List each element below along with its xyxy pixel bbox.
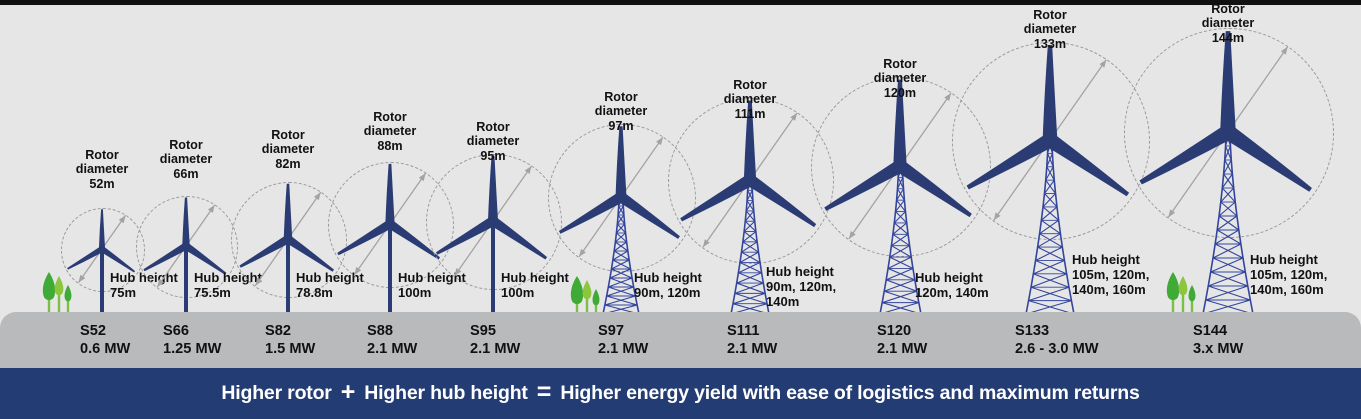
model-name: S52	[80, 323, 130, 341]
hub-height-value: 90m, 120m	[634, 285, 702, 300]
model-name: S133	[1015, 323, 1099, 341]
hub-height-label: Hub height105m, 120m,140m, 160m	[1072, 252, 1149, 297]
rotor-label-line: diameter	[690, 92, 810, 106]
model-power: 2.1 MW	[470, 341, 520, 359]
rotor-label-line: diameter	[990, 22, 1110, 36]
rotor-label-line: Rotor	[330, 110, 450, 124]
model-name: S95	[470, 323, 520, 341]
hub-height-value: 105m, 120m,	[1250, 267, 1327, 282]
model-name: S66	[163, 323, 221, 341]
model-power: 2.1 MW	[367, 341, 417, 359]
model-name: S88	[367, 323, 417, 341]
turbine-model-label: S1443.x MW	[1193, 323, 1243, 358]
rotor-label-line: diameter	[1168, 16, 1288, 30]
hub-height-value: 140m, 160m	[1072, 282, 1149, 297]
hub-height-value: 90m, 120m,	[766, 279, 836, 294]
model-name: S82	[265, 323, 315, 341]
turbine-model-label: S952.1 MW	[470, 323, 520, 358]
model-name: S144	[1193, 323, 1243, 341]
hub-height-prefix: Hub height	[915, 270, 989, 285]
rotor-diameter-label: Rotordiameter120m	[840, 57, 960, 100]
rotor-diameter-value: 144m	[1168, 31, 1288, 45]
tagline-banner: Higher rotor + Higher hub height = Highe…	[0, 368, 1361, 419]
turbine-model-label: S972.1 MW	[598, 323, 648, 358]
model-name: S111	[727, 323, 777, 341]
hub-height-prefix: Hub height	[766, 264, 836, 279]
turbine-model-label: S1112.1 MW	[727, 323, 777, 358]
model-power: 2.6 - 3.0 MW	[1015, 341, 1099, 359]
hub-height-label: Hub height90m, 120m,140m	[766, 264, 836, 309]
model-power: 2.1 MW	[598, 341, 648, 359]
turbine-model-label: S1202.1 MW	[877, 323, 927, 358]
hub-height-value: 100m	[501, 285, 569, 300]
model-power: 3.x MW	[1193, 341, 1243, 359]
model-power: 1.5 MW	[265, 341, 315, 359]
rotor-diameter-value: 133m	[990, 37, 1110, 51]
hub-height-label: Hub height90m, 120m	[634, 270, 702, 300]
rotor-label-line: Rotor	[433, 120, 553, 134]
turbine-model-label: S1332.6 - 3.0 MW	[1015, 323, 1099, 358]
rotor-diameter-label: Rotordiameter133m	[990, 8, 1110, 51]
tagline-part-2: Higher hub height	[364, 382, 527, 405]
hub-height-prefix: Hub height	[634, 270, 702, 285]
rotor-blades	[1119, 23, 1337, 241]
model-name: S120	[877, 323, 927, 341]
turbine-model-label: S520.6 MW	[80, 323, 130, 358]
hub-height-value: 105m, 120m,	[1072, 267, 1149, 282]
rotor-diameter-value: 95m	[433, 149, 553, 163]
tagline-part-3: Higher energy yield with ease of logisti…	[560, 382, 1139, 405]
model-power: 0.6 MW	[80, 341, 130, 359]
rotor-diameter-value: 120m	[840, 86, 960, 100]
rotor-label-line: Rotor	[690, 78, 810, 92]
rotor-diameter-label: Rotordiameter144m	[1168, 2, 1288, 45]
infographic-canvas: Rotordiameter52mHub height75mRotordiamet…	[0, 0, 1361, 419]
rotor-label-line: diameter	[433, 134, 553, 148]
hub-height-value: 120m, 140m	[915, 285, 989, 300]
model-power: 2.1 MW	[877, 341, 927, 359]
model-power: 1.25 MW	[163, 341, 221, 359]
rotor-label-line: diameter	[330, 124, 450, 138]
rotor-diameter-label: Rotordiameter95m	[433, 120, 553, 163]
hub-height-label: Hub height105m, 120m,140m, 160m	[1250, 252, 1327, 297]
rotor-diameter-label: Rotordiameter111m	[690, 78, 810, 121]
tagline-part-1: Higher rotor	[221, 382, 331, 405]
model-name: S97	[598, 323, 648, 341]
rotor-label-line: Rotor	[990, 8, 1110, 22]
hub-height-label: Hub height120m, 140m	[915, 270, 989, 300]
turbine-model-label: S821.5 MW	[265, 323, 315, 358]
turbine-model-label: S661.25 MW	[163, 323, 221, 358]
rotor-label-line: Rotor	[1168, 2, 1288, 16]
hub-height-prefix: Hub height	[1072, 252, 1149, 267]
hub-height-prefix: Hub height	[1250, 252, 1327, 267]
model-power: 2.1 MW	[727, 341, 777, 359]
rotor-diameter-value: 111m	[690, 107, 810, 121]
hub-height-value: 140m	[766, 294, 836, 309]
equals-icon: =	[528, 380, 561, 405]
plus-icon: +	[332, 380, 365, 405]
hub-height-value: 140m, 160m	[1250, 282, 1327, 297]
rotor-label-line: diameter	[840, 71, 960, 85]
turbine-model-label: S882.1 MW	[367, 323, 417, 358]
rotor-label-line: Rotor	[840, 57, 960, 71]
